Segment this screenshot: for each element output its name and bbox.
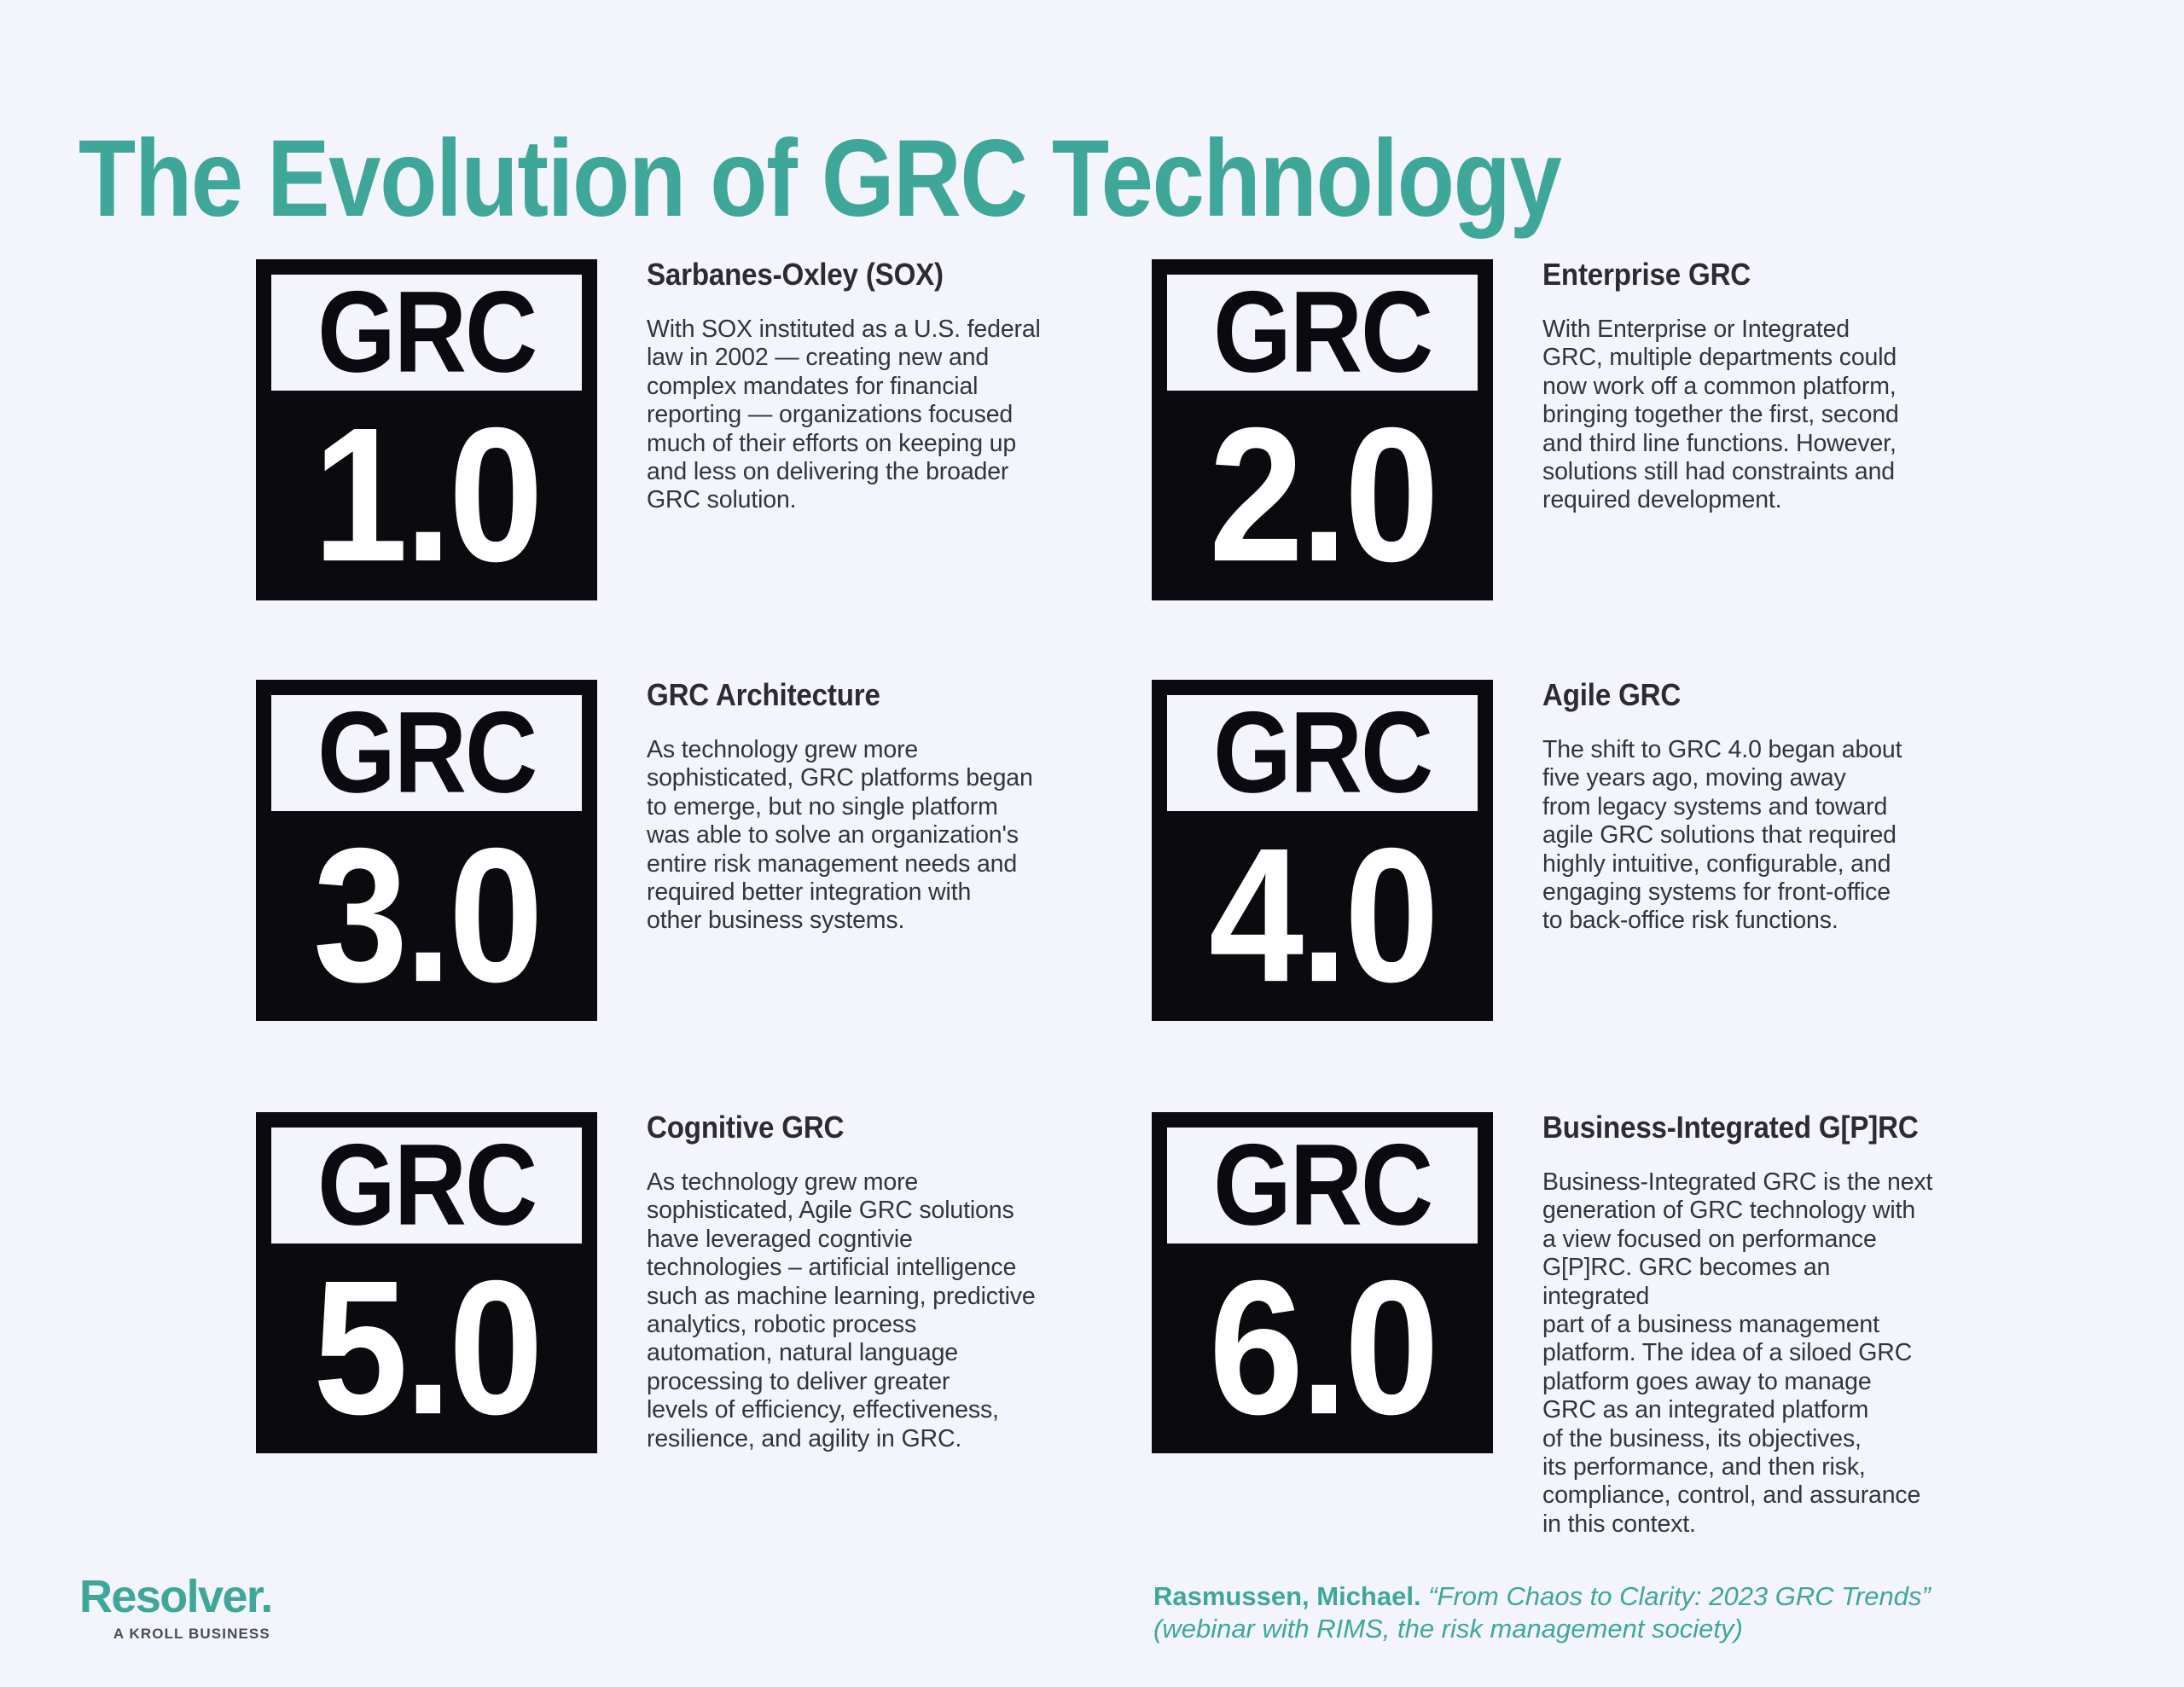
grc-entry-text: Cognitive GRC As technology grew more so…: [647, 1112, 1048, 1453]
grc-entry: GRC 2.0 Enterprise GRC With Enterprise o…: [1152, 259, 1943, 600]
grc-entry-text: Agile GRC The shift to GRC 4.0 began abo…: [1542, 680, 1943, 936]
grc-badge: GRC 2.0: [1152, 259, 1493, 600]
grc-badge-top: GRC: [1167, 1128, 1478, 1244]
grc-entry-heading: Sarbanes-Oxley (SOX): [647, 259, 1015, 290]
grc-badge-label: GRC: [1213, 695, 1432, 811]
grc-entry-heading: Cognitive GRC: [647, 1112, 1015, 1143]
grc-badge: GRC 3.0: [256, 680, 597, 1021]
grc-entry-body: The shift to GRC 4.0 began about five ye…: [1542, 736, 1943, 936]
grc-entry-heading: Business-Integrated G[P]RC: [1542, 1112, 1911, 1143]
grc-badge-top: GRC: [1167, 695, 1478, 811]
grc-entry-text: GRC Architecture As technology grew more…: [647, 680, 1048, 936]
grc-badge-version: 5.0: [271, 1231, 582, 1466]
grc-entry-heading: Enterprise GRC: [1542, 259, 1911, 290]
resolver-wordmark: Resolver.: [79, 1574, 272, 1620]
grc-badge: GRC 5.0: [256, 1112, 597, 1453]
grc-badge-label: GRC: [1213, 275, 1432, 391]
grc-entry: GRC 1.0 Sarbanes-Oxley (SOX) With SOX in…: [256, 259, 1048, 600]
grc-badge-label: GRC: [317, 275, 536, 391]
grc-badge-label: GRC: [317, 1128, 536, 1244]
grc-entry: GRC 4.0 Agile GRC The shift to GRC 4.0 b…: [1152, 680, 1943, 1021]
grc-badge: GRC 4.0: [1152, 680, 1493, 1021]
grc-entry: GRC 3.0 GRC Architecture As technology g…: [256, 680, 1048, 1021]
grc-entry-text: Enterprise GRC With Enterprise or Integr…: [1542, 259, 1943, 515]
grc-evolution-grid: GRC 1.0 Sarbanes-Oxley (SOX) With SOX in…: [0, 0, 2184, 1687]
citation-venue: (webinar with RIMS, the risk management …: [1153, 1614, 1743, 1644]
grc-entry: GRC 6.0 Business-Integrated G[P]RC Busin…: [1152, 1112, 1943, 1539]
grc-badge-version: 2.0: [1167, 378, 1478, 613]
citation-title: “From Chaos to Clarity: 2023 GRC Trends”: [1428, 1581, 1931, 1611]
grc-badge-top: GRC: [1167, 275, 1478, 391]
grc-entry-body: Business-Integrated GRC is the next gene…: [1542, 1168, 1943, 1539]
resolver-logo: Resolver. A KROLL BUSINESS: [79, 1574, 272, 1643]
grc-entry-text: Sarbanes-Oxley (SOX) With SOX instituted…: [647, 259, 1048, 515]
citation-author: Rasmussen, Michael.: [1153, 1581, 1421, 1611]
grc-entry-body: With SOX instituted as a U.S. federal la…: [647, 316, 1048, 515]
grc-badge: GRC 6.0: [1152, 1112, 1493, 1453]
grc-entry-text: Business-Integrated G[P]RC Business-Inte…: [1542, 1112, 1943, 1539]
grc-badge-top: GRC: [271, 1128, 582, 1244]
source-citation: Rasmussen, Michael. “From Chaos to Clari…: [1153, 1580, 2109, 1645]
grc-entry-body: As technology grew more sophisticated, A…: [647, 1168, 1048, 1453]
grc-badge-version: 6.0: [1167, 1231, 1478, 1466]
grc-entry-heading: GRC Architecture: [647, 680, 1015, 710]
grc-entry-body: With Enterprise or Integrated GRC, multi…: [1542, 316, 1943, 515]
grc-badge-label: GRC: [1213, 1128, 1432, 1244]
grc-badge-version: 3.0: [271, 798, 582, 1034]
grc-badge: GRC 1.0: [256, 259, 597, 600]
grc-entry-heading: Agile GRC: [1542, 680, 1911, 710]
grc-badge-version: 4.0: [1167, 798, 1478, 1034]
grc-badge-top: GRC: [271, 695, 582, 811]
grc-badge-label: GRC: [317, 695, 536, 811]
grc-badge-top: GRC: [271, 275, 582, 391]
grc-badge-version: 1.0: [271, 378, 582, 613]
grc-entry: GRC 5.0 Cognitive GRC As technology grew…: [256, 1112, 1048, 1453]
grc-entry-body: As technology grew more sophisticated, G…: [647, 736, 1048, 936]
resolver-tagline: A KROLL BUSINESS: [79, 1626, 272, 1643]
